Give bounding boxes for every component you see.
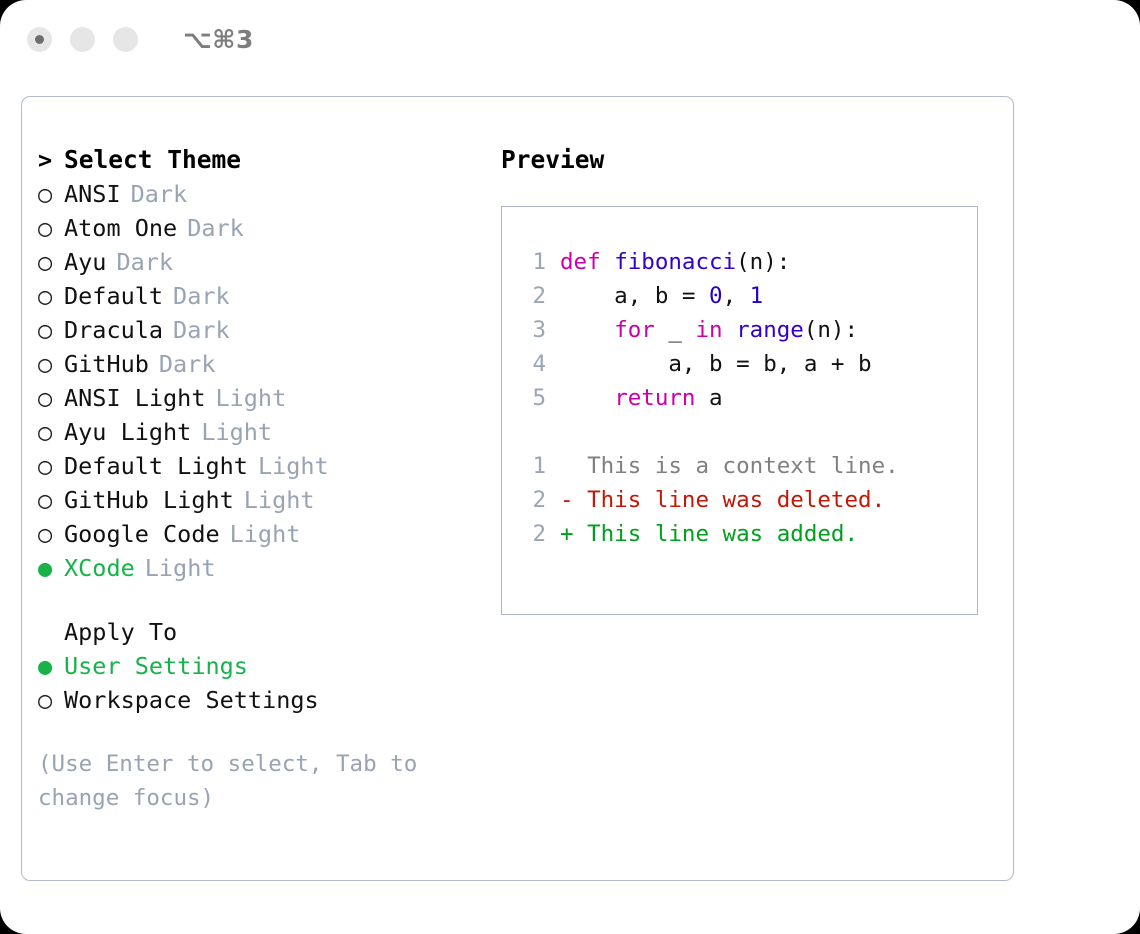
keyboard-shortcut-label: ⌥⌘3: [183, 25, 254, 54]
theme-variant: Light: [201, 415, 272, 449]
preview-panel: Preview 1def fibonacci(n):2 a, b = 0, 13…: [501, 143, 996, 615]
code-line: 4 a, b = b, a + b: [516, 347, 977, 381]
line-number: 2: [516, 517, 546, 551]
diff-line: 2+ This line was added.: [516, 517, 977, 551]
theme-list-item[interactable]: ○GitHubDark: [38, 347, 488, 381]
code-token-plain: a: [695, 385, 722, 411]
diff-text: This line was deleted.: [587, 483, 885, 517]
code-token-plain: (n):: [736, 249, 790, 275]
radio-unselected-icon[interactable]: ○: [38, 347, 64, 381]
code-text: return a: [560, 381, 723, 415]
theme-variant: Light: [230, 517, 301, 551]
theme-list: ○ANSIDark○Atom OneDark○AyuDark○DefaultDa…: [38, 177, 488, 585]
diff-sign: -: [560, 483, 587, 517]
diff-text: This is a context line.: [587, 449, 899, 483]
radio-unselected-icon[interactable]: ○: [38, 517, 64, 551]
preview-title: Preview: [501, 143, 996, 177]
diff-sample: 1 This is a context line.2- This line wa…: [516, 449, 977, 551]
code-sample: 1def fibonacci(n):2 a, b = 0, 13 for _ i…: [516, 245, 977, 415]
theme-list-item[interactable]: ○AyuDark: [38, 245, 488, 279]
keyboard-hint: (Use Enter to select, Tab to change focu…: [38, 747, 448, 815]
line-number: 2: [516, 483, 546, 517]
code-token-kw: for: [614, 317, 655, 343]
radio-unselected-icon[interactable]: ○: [38, 279, 64, 313]
code-text: a, b = 0, 1: [560, 279, 763, 313]
theme-name: GitHub Light: [64, 483, 234, 517]
caret-icon: >: [38, 143, 64, 177]
theme-list-item[interactable]: ○GitHub LightLight: [38, 483, 488, 517]
radio-unselected-icon[interactable]: ○: [38, 415, 64, 449]
code-token-num: 1: [750, 283, 764, 309]
radio-unselected-icon[interactable]: ○: [38, 683, 64, 717]
code-token-num: 0: [709, 283, 723, 309]
code-line: 5 return a: [516, 381, 977, 415]
radio-unselected-icon[interactable]: ○: [38, 313, 64, 347]
code-token-kw: def: [560, 249, 614, 275]
apply-to-options: ●User Settings○Workspace Settings: [38, 649, 488, 717]
theme-name: Atom One: [64, 211, 177, 245]
theme-list-item[interactable]: ○ANSIDark: [38, 177, 488, 211]
code-token-plain: ,: [723, 283, 750, 309]
theme-variant: Dark: [187, 211, 244, 245]
line-number: 4: [516, 347, 546, 381]
code-text: a, b = b, a + b: [560, 347, 872, 381]
select-theme-header: > Select Theme: [38, 143, 488, 177]
theme-variant: Dark: [131, 177, 188, 211]
radio-selected-icon[interactable]: ●: [38, 649, 64, 683]
theme-variant: Dark: [173, 313, 230, 347]
radio-unselected-icon[interactable]: ○: [38, 245, 64, 279]
theme-list-item[interactable]: ○DraculaDark: [38, 313, 488, 347]
code-text: def fibonacci(n):: [560, 245, 790, 279]
apply-to-option[interactable]: ●User Settings: [38, 649, 488, 683]
code-line: 1def fibonacci(n):: [516, 245, 977, 279]
theme-variant: Dark: [116, 245, 173, 279]
diff-sign: [560, 449, 587, 483]
theme-list-item[interactable]: ○Default LightLight: [38, 449, 488, 483]
theme-variant: Light: [258, 449, 329, 483]
dot-2-icon[interactable]: [70, 27, 95, 52]
section-spacer: [38, 585, 488, 615]
theme-name: Ayu: [64, 245, 106, 279]
code-token-plain: _: [655, 317, 696, 343]
theme-name: Default Light: [64, 449, 248, 483]
theme-variant: Dark: [159, 347, 216, 381]
app-window: ⌥⌘3 > Select Theme ○ANSIDark○Atom OneDar…: [0, 0, 1140, 934]
code-token-fn: range: [736, 317, 804, 343]
line-number: 2: [516, 279, 546, 313]
code-token-plain: a, b =: [560, 283, 709, 309]
radio-unselected-icon[interactable]: ○: [38, 211, 64, 245]
select-theme-title: Select Theme: [64, 143, 241, 177]
theme-name: Ayu Light: [64, 415, 191, 449]
apply-to-option[interactable]: ○Workspace Settings: [38, 683, 488, 717]
apply-to-label: User Settings: [64, 649, 248, 683]
theme-name: ANSI Light: [64, 381, 205, 415]
theme-name: Google Code: [64, 517, 220, 551]
record-dot-inner: [35, 35, 44, 44]
code-token-kw: return: [614, 385, 695, 411]
theme-variant: Light: [145, 551, 216, 585]
code-text: for _ in range(n):: [560, 313, 858, 347]
content-columns: > Select Theme ○ANSIDark○Atom OneDark○Ay…: [22, 97, 1013, 880]
line-number: 1: [516, 449, 546, 483]
window-controls: [27, 27, 138, 52]
radio-unselected-icon[interactable]: ○: [38, 381, 64, 415]
line-number: 3: [516, 313, 546, 347]
theme-list-item[interactable]: ○Ayu LightLight: [38, 415, 488, 449]
theme-name: Dracula: [64, 313, 163, 347]
theme-variant: Light: [215, 381, 286, 415]
theme-variant: Dark: [173, 279, 230, 313]
code-token-plain: a, b = b, a + b: [560, 351, 872, 377]
titlebar: ⌥⌘3: [0, 0, 1140, 78]
code-token-plain: (n):: [804, 317, 858, 343]
radio-unselected-icon[interactable]: ○: [38, 177, 64, 211]
diff-text: This line was added.: [587, 517, 858, 551]
preview-gap: [516, 415, 977, 449]
radio-selected-icon[interactable]: ●: [38, 551, 64, 585]
theme-name: XCode: [64, 551, 135, 585]
theme-name: GitHub: [64, 347, 149, 381]
code-token-plain: [560, 385, 614, 411]
code-token-fn: fibonacci: [614, 249, 736, 275]
theme-list-item[interactable]: ○ANSI LightLight: [38, 381, 488, 415]
code-line: 2 a, b = 0, 1: [516, 279, 977, 313]
code-token-kw: in: [695, 317, 722, 343]
theme-variant: Light: [244, 483, 315, 517]
diff-sign: +: [560, 517, 587, 551]
theme-list-item[interactable]: ●XCodeLight: [38, 551, 488, 585]
theme-list-item[interactable]: ○Google CodeLight: [38, 517, 488, 551]
line-number: 5: [516, 381, 546, 415]
diff-line: 2- This line was deleted.: [516, 483, 977, 517]
apply-to-label: Workspace Settings: [64, 683, 319, 717]
code-line: 3 for _ in range(n):: [516, 313, 977, 347]
code-token-plain: [560, 317, 614, 343]
dot-3-icon[interactable]: [113, 27, 138, 52]
record-dot-icon[interactable]: [27, 27, 52, 52]
theme-name: ANSI: [64, 177, 121, 211]
theme-selector-panel: > Select Theme ○ANSIDark○Atom OneDark○Ay…: [38, 143, 488, 815]
code-token-plain: [723, 317, 737, 343]
theme-name: Default: [64, 279, 163, 313]
radio-unselected-icon[interactable]: ○: [38, 449, 64, 483]
theme-list-item[interactable]: ○DefaultDark: [38, 279, 488, 313]
radio-unselected-icon[interactable]: ○: [38, 483, 64, 517]
diff-line: 1 This is a context line.: [516, 449, 977, 483]
line-number: 1: [516, 245, 546, 279]
preview-box: 1def fibonacci(n):2 a, b = 0, 13 for _ i…: [501, 206, 978, 615]
theme-list-item[interactable]: ○Atom OneDark: [38, 211, 488, 245]
app-frame: > Select Theme ○ANSIDark○Atom OneDark○Ay…: [21, 96, 1014, 881]
apply-to-heading: Apply To: [38, 615, 488, 649]
